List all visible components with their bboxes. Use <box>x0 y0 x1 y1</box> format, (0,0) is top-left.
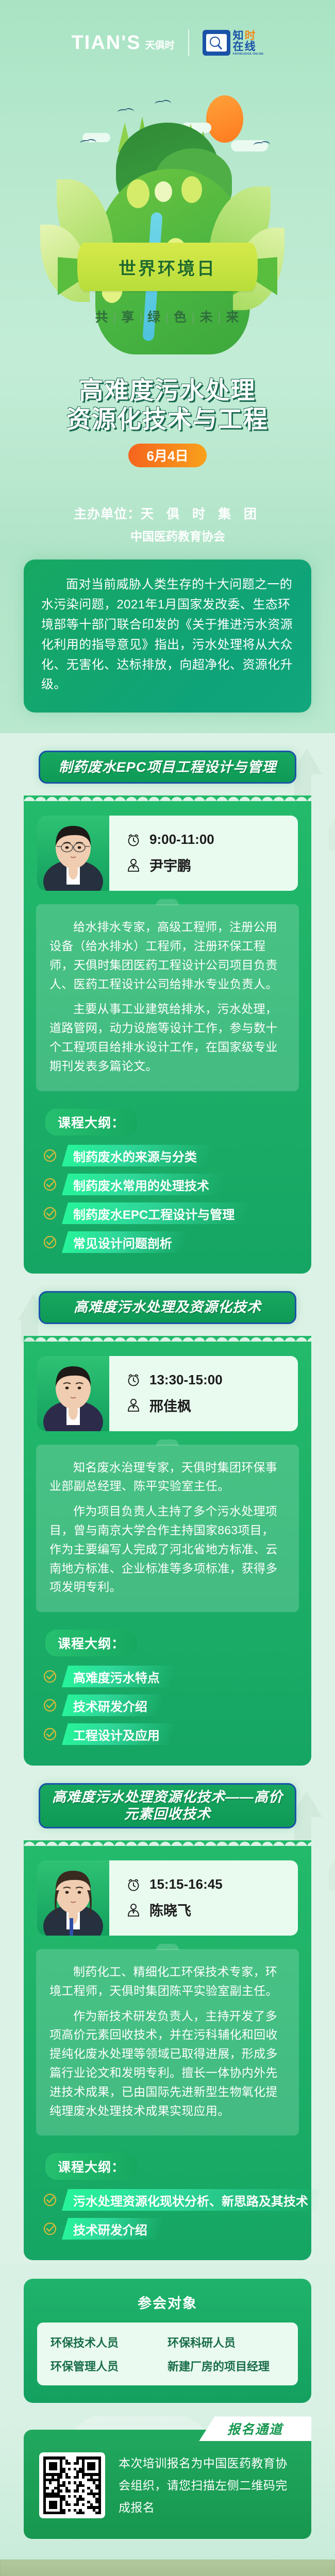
zhishi-english: KNOWLEDGE ONLINE <box>233 53 264 56</box>
outline-list-3: 污水处理资源化现状分析、新思路及其技术 技术研发介绍 <box>42 2189 311 2240</box>
session-time-row: 13:30-15:00 <box>126 1372 298 1388</box>
session-3: 高难度污水处理资源化技术——高价元素回收技术 15:15-16:45 <box>0 1766 335 2260</box>
zhishi-char-2: 时 <box>245 30 256 41</box>
signup-tab: 报名通道 <box>199 2416 311 2441</box>
host-section: 主办单位：天 俱 时 集 团 中国医药教育协会 <box>0 495 335 547</box>
session-card-3: 15:15-16:45 陈晓飞 制药化工、精细化工环保技术专家，环境工程师，天俱… <box>24 1846 311 2260</box>
tians-logo-cn: 天俱时 <box>145 38 175 54</box>
outline-bar: 技术研发介绍 <box>62 1694 164 1716</box>
outline-item: 制药废水的来源与分类 <box>42 1145 311 1166</box>
check-circle-icon <box>42 2192 58 2208</box>
host-label: 主办单位： <box>74 507 141 521</box>
session-title-1: 制药废水EPC项目工程设计与管理 <box>59 759 277 776</box>
alarm-clock-icon <box>126 832 141 848</box>
speaker-bio-3: 制药化工、精细化工环保技术专家，环境工程师，天俱时集团陈平实验室副主任。作为新技… <box>36 1949 299 2136</box>
intro-paragraph: 面对当前威胁人类生存的十大问题之一的水污染问题，2021年1月国家发改委、生态环… <box>41 575 294 695</box>
outline-item: 常见设计问题剖析 <box>42 1231 311 1253</box>
check-circle-icon <box>42 1148 58 1163</box>
session-title-3: 高难度污水处理资源化技术——高价元素回收技术 <box>47 1789 288 1823</box>
tians-logo-text: TIAN'S <box>72 32 141 54</box>
outline-bar: 制药废水的来源与分类 <box>62 1145 213 1166</box>
signup-tab-label: 报名通道 <box>227 2419 283 2438</box>
audience-item-3: 环保管理人员 <box>51 2358 167 2374</box>
outline-text-2: 技术研发介绍 <box>73 2220 147 2238</box>
outline-text-4: 常见设计问题剖析 <box>73 1233 172 1251</box>
audience-row: 环保技术人员 环保科研人员 <box>51 2334 284 2350</box>
session-info-2: 13:30-15:00 邢佳枫 <box>96 1356 298 1431</box>
speaker-avatar-1 <box>37 816 109 891</box>
session-speaker-3: 陈晓飞 <box>149 1900 191 1920</box>
outline-text-1: 污水处理资源化现状分析、新思路及其技术 <box>73 2191 308 2209</box>
outline-text-2: 技术研发介绍 <box>73 1697 147 1715</box>
ribbon-banner: 世界环境日 <box>77 243 258 291</box>
outline-bar: 常见设计问题剖析 <box>62 1231 189 1253</box>
speaker-photo <box>37 816 109 891</box>
magnifier-screen-icon <box>203 30 230 56</box>
alarm-clock-icon <box>126 1372 141 1387</box>
intro-card: 面对当前威胁人类生存的十大问题之一的水污染问题，2021年1月国家发改委、生态环… <box>24 560 311 713</box>
slogan-char-4: 色 <box>174 310 188 325</box>
outline-bar: 技术研发介绍 <box>62 2218 164 2240</box>
speaker-bio-paragraph-2: 作为项目负责人主持了多个污水处理项目，曾与南京大学合作主持国家863项目，作为主… <box>49 1502 286 1597</box>
audience-header: 参会对象 <box>24 2292 311 2312</box>
brand-divider <box>188 29 189 56</box>
signup-text: 本次培训报名为中国医药教育协会组织，请您扫描左侧二维码完成报名 <box>119 2452 296 2518</box>
ribbon-text: 世界环境日 <box>119 255 216 280</box>
hero-slogan: 共|享|绿|色|未|来 <box>0 307 335 326</box>
speaker-bio-paragraph-2: 作为新技术研发负责人，主持开发了多项高价元素回收技术，并在污科辅化和回收提纯化废… <box>49 2007 286 2121</box>
slogan-char-1: 共 <box>95 310 109 325</box>
session-1: 制药废水EPC项目工程设计与管理 9:00-11:00 <box>0 733 335 1273</box>
sessions-section: 制药废水EPC项目工程设计与管理 9:00-11:00 <box>0 733 335 2263</box>
outline-bar: 高难度污水特点 <box>62 1666 176 1687</box>
speaker-bio-1: 给水排水专家，高级工程师，注册公用设备（给水排水）工程师，注册环保工程师，天俱时… <box>36 904 299 1091</box>
session-speaker-row: 尹宇鹏 <box>126 855 298 875</box>
zhishi-char-1: 知 <box>233 30 244 41</box>
tree-icon <box>127 179 149 208</box>
alarm-clock-icon <box>126 1877 141 1892</box>
speaker-avatar-3 <box>37 1860 109 1936</box>
session-speaker-row: 邢佳枫 <box>126 1395 298 1415</box>
outline-bar: 工程设计及应用 <box>62 1723 176 1745</box>
outline-bar: 污水处理资源化现状分析、新思路及其技术 <box>62 2189 325 2211</box>
session-time-1: 9:00-11:00 <box>149 832 214 848</box>
sun-icon <box>206 95 243 143</box>
outline-item: 制药废水EPC工程设计与管理 <box>42 1202 311 1224</box>
intro-section: 面对当前威胁人类生存的十大问题之一的水污染问题，2021年1月国家发改委、生态环… <box>0 547 335 733</box>
outline-list-1: 制药废水的来源与分类 制药废水常用的处理技术 制药废水EPC工程设计与管理 常见… <box>42 1145 311 1253</box>
session-speaker-2: 邢佳枫 <box>149 1395 191 1415</box>
brand-bar: TIAN'S 天俱时 知 时 在 线 KNOWLEDGE ONLINE <box>0 25 335 61</box>
audience-item-2: 环保科研人员 <box>167 2334 284 2350</box>
outline-bar: 制药废水EPC工程设计与管理 <box>62 1202 251 1224</box>
audience-row: 环保管理人员 新建厂房的项目经理 <box>51 2358 284 2374</box>
zhishi-char-4: 线 <box>245 41 256 52</box>
session-card-1: 9:00-11:00 尹宇鹏 给水排水专家，高级工程师，注册公用设备（给水排水）… <box>24 801 311 1273</box>
bird-icon <box>79 140 89 145</box>
recycle-arrow-icon <box>309 810 335 867</box>
zhishi-online-logo: 知 时 在 线 KNOWLEDGE ONLINE <box>203 30 264 56</box>
outline-text-1: 制药废水的来源与分类 <box>73 1146 197 1164</box>
main-title-line-1: 高难度污水处理 <box>0 376 335 405</box>
check-circle-icon <box>42 1234 58 1250</box>
outline-item: 技术研发介绍 <box>42 2218 311 2240</box>
outline-label-2: 课程大纲： <box>45 1630 137 1656</box>
title-section: 高难度污水处理 资源化技术与工程 6月4日 <box>0 361 335 495</box>
person-icon <box>126 1397 141 1413</box>
audience-section: 参会对象 环保技术人员 环保科研人员 环保管理人员 新建厂房的项目经理 <box>0 2263 335 2416</box>
outline-bar: 制药废水常用的处理技术 <box>62 1174 226 1195</box>
speaker-bio-paragraph-1: 制药化工、精细化工环保技术专家，环境工程师，天俱时集团陈平实验室副主任。 <box>49 1962 286 2001</box>
session-info-1: 9:00-11:00 尹宇鹏 <box>96 816 298 891</box>
session-title-2: 高难度污水处理及资源化技术 <box>74 1299 261 1316</box>
outline-text-1: 高难度污水特点 <box>73 1668 160 1686</box>
bird-icon <box>117 109 127 114</box>
signup-section: 报名通道 本次培训报名为中国医药教育协会组织，请您扫描左侧二维码完成报名 <box>0 2416 335 2560</box>
main-title-line-2: 资源化技术与工程 <box>0 405 335 434</box>
speaker-bio-2: 知名废水治理专家，天俱时集团环保事业部副总经理、陈平实验室主任。作为项目负责人主… <box>36 1445 299 1613</box>
slogan-char-2: 享 <box>121 310 135 325</box>
check-circle-icon <box>42 2221 58 2236</box>
world-environment-day-ribbon: 世界环境日 <box>0 234 335 312</box>
outline-item: 高难度污水特点 <box>42 1666 311 1687</box>
qr-code[interactable] <box>39 2452 105 2518</box>
tree-icon <box>155 181 172 202</box>
session-header-2: 高难度污水处理及资源化技术 <box>39 1291 296 1324</box>
session-card-2: 13:30-15:00 邢佳枫 知名废水治理专家，天俱时集团环保事业部副总经理、… <box>24 1342 311 1766</box>
check-circle-icon <box>42 1726 58 1742</box>
check-circle-icon <box>42 1698 58 1713</box>
audience-card: 参会对象 环保技术人员 环保科研人员 环保管理人员 新建厂房的项目经理 <box>24 2279 311 2403</box>
session-header-1: 制药废水EPC项目工程设计与管理 <box>39 751 296 784</box>
session-info-3: 15:15-16:45 陈晓飞 <box>96 1860 298 1936</box>
outline-label-1: 课程大纲： <box>45 1109 137 1136</box>
outline-text-3: 制药废水EPC工程设计与管理 <box>73 1204 234 1222</box>
footer-background-image <box>0 2560 335 2576</box>
outline-item: 污水处理资源化现状分析、新思路及其技术 <box>42 2189 311 2211</box>
slogan-char-3: 绿 <box>147 310 161 325</box>
footer-section: 环保工程 T-EPC引领者 T-EPC LEADER OF ENVIRONMEN… <box>0 2560 335 2576</box>
zhishi-char-3: 在 <box>233 41 244 52</box>
session-time-row: 9:00-11:00 <box>126 832 298 848</box>
person-icon <box>126 1902 141 1918</box>
hero-section: TIAN'S 天俱时 知 时 在 线 KNOWLEDGE ONLINE <box>0 0 335 361</box>
speaker-photo <box>37 1356 109 1431</box>
speaker-bio-paragraph-2: 主要从事工业建筑给排水，污水处理，道路管网，动力设施等设计工作，参与数十个工程项… <box>49 999 286 1075</box>
outline-list-2: 高难度污水特点 技术研发介绍 工程设计及应用 <box>42 1666 311 1745</box>
check-circle-icon <box>42 1669 58 1684</box>
session-speaker-1: 尹宇鹏 <box>149 855 191 875</box>
recycle-arrow-icon <box>309 1851 335 1908</box>
outline-item: 制药废水常用的处理技术 <box>42 1174 311 1195</box>
host-org-1: 天 俱 时 集 团 <box>141 507 261 521</box>
qr-module <box>98 2512 101 2514</box>
check-circle-icon <box>42 1177 58 1192</box>
outline-text-3: 工程设计及应用 <box>73 1725 160 1743</box>
session-time-3: 15:15-16:45 <box>149 1876 223 1892</box>
outline-text-2: 制药废水常用的处理技术 <box>73 1175 209 1193</box>
speaker-bio-paragraph-1: 知名废水治理专家，天俱时集团环保事业部副总经理、陈平实验室主任。 <box>49 1458 286 1496</box>
event-date-badge: 6月4日 <box>128 444 207 467</box>
tree-icon <box>181 176 202 203</box>
person-icon <box>126 857 141 873</box>
session-time-2: 13:30-15:00 <box>149 1372 223 1388</box>
slogan-char-5: 未 <box>200 310 214 325</box>
bird-icon <box>154 100 164 106</box>
session-time-row: 15:15-16:45 <box>126 1876 298 1892</box>
tians-logo: TIAN'S 天俱时 <box>72 32 175 54</box>
check-circle-icon <box>42 1206 58 1221</box>
outline-label-3: 课程大纲： <box>45 2153 137 2180</box>
session-2: 高难度污水处理及资源化技术 13:30-15:00 <box>0 1274 335 1766</box>
session-speaker-row: 陈晓飞 <box>126 1900 298 1920</box>
slogan-char-6: 来 <box>226 310 240 325</box>
audience-list: 环保技术人员 环保科研人员 环保管理人员 新建厂房的项目经理 <box>37 2323 298 2385</box>
host-org-2: 中国医药教育协会 <box>0 527 335 544</box>
session-header-3: 高难度污水处理资源化技术——高价元素回收技术 <box>39 1783 296 1828</box>
outline-item: 工程设计及应用 <box>42 1723 311 1745</box>
speaker-avatar-2 <box>37 1356 109 1431</box>
outline-item: 技术研发介绍 <box>42 1694 311 1716</box>
audience-item-4: 新建厂房的项目经理 <box>167 2358 284 2374</box>
speaker-photo <box>37 1860 109 1936</box>
audience-item-1: 环保技术人员 <box>51 2334 167 2350</box>
speaker-bio-paragraph-1: 给水排水专家，高级工程师，注册公用设备（给水排水）工程师，注册环保工程师，天俱时… <box>49 918 286 993</box>
signup-card[interactable]: 报名通道 本次培训报名为中国医药教育协会组织，请您扫描左侧二维码完成报名 <box>24 2430 311 2539</box>
